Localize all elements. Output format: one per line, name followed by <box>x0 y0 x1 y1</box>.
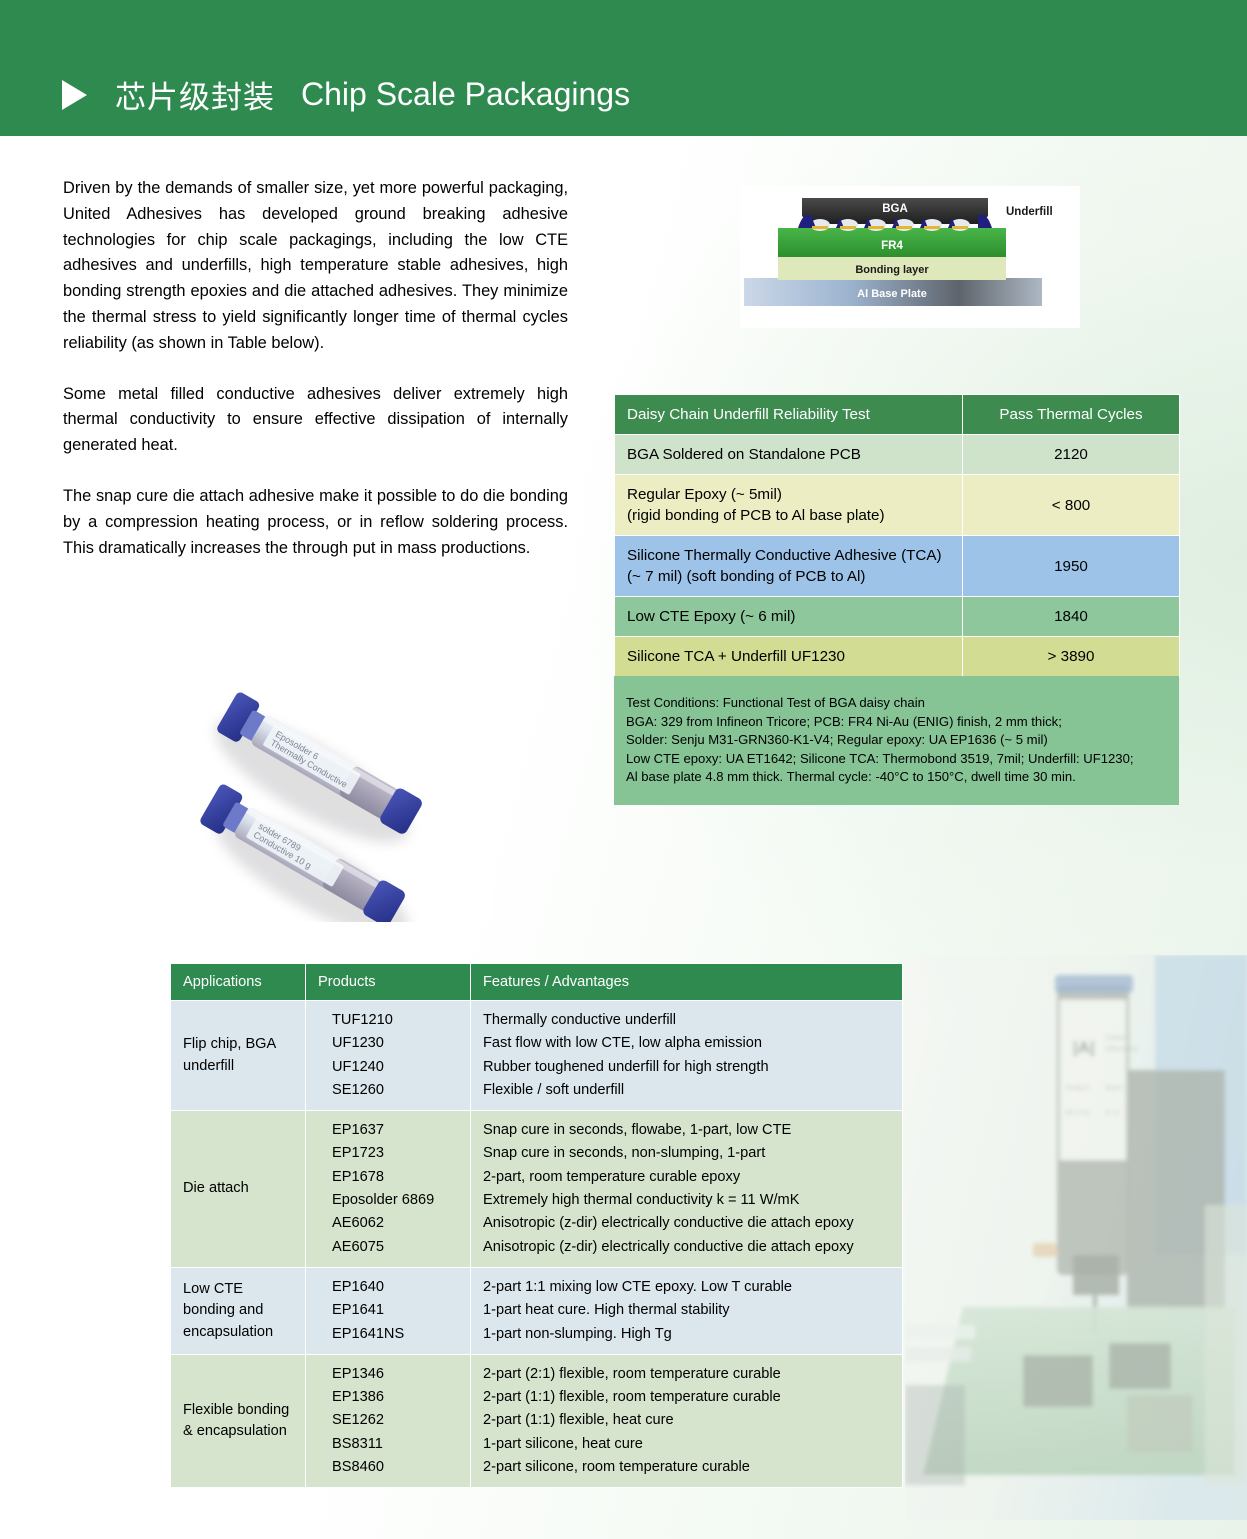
feature-line: 2-part (2:1) flexible, room temperature … <box>483 1363 896 1386</box>
table-row: Regular Epoxy (~ 5mil) (rigid bonding of… <box>615 475 1180 536</box>
product-code: SE1260 <box>332 1079 464 1102</box>
product-code: EP1723 <box>332 1142 464 1165</box>
product-code: EP1640 <box>332 1276 464 1299</box>
bga-cross-section-diagram: BGA Underfill FR4 Bonding layer Al Base … <box>740 186 1080 328</box>
bonding-layer-label: Bonding layer <box>855 264 929 276</box>
dispensing-machine-over-pcb-photo: |A| United Adhesives Product Batch EP172… <box>905 955 1247 1520</box>
application-cell: Low CTE bonding and encapsulation <box>171 1267 306 1354</box>
note-line: Low CTE epoxy: UA ET1642; Silicone TCA: … <box>626 750 1165 769</box>
page-title-chinese: 芯片级封装 <box>115 72 275 117</box>
svg-text:United: United <box>1105 1035 1125 1042</box>
table-row: Silicone Thermally Conductive Adhesive (… <box>615 536 1180 597</box>
feature-line: Fast flow with low CTE, low alpha emissi… <box>483 1032 896 1055</box>
feature-line: Snap cure in seconds, flowabe, 1-part, l… <box>483 1119 896 1142</box>
svg-text:Batch: Batch <box>1105 1085 1123 1092</box>
feature-line: 2-part, room temperature curable epoxy <box>483 1166 896 1189</box>
feature-line: Flexible / soft underfill <box>483 1079 896 1102</box>
product-code: EP1641NS <box>332 1323 464 1346</box>
reliability-cell-test: Silicone TCA + Underfill UF1230 <box>615 637 963 677</box>
svg-text:A-12: A-12 <box>1105 1110 1120 1117</box>
bga-label: BGA <box>882 203 908 215</box>
product-code: EP1678 <box>332 1166 464 1189</box>
note-line: Al base plate 4.8 mm thick. Thermal cycl… <box>626 768 1165 787</box>
features-cell: 2-part 1:1 mixing low CTE epoxy. Low T c… <box>471 1267 903 1354</box>
note-line: BGA: 329 from Infineon Tricore; PCB: FR4… <box>626 713 1165 732</box>
product-code: AE6062 <box>332 1212 464 1235</box>
note-line: Solder: Senju M31-GRN360-K1-V4; Regular … <box>626 731 1165 750</box>
applications-header-applications: Applications <box>171 964 306 1001</box>
product-code: AE6075 <box>332 1236 464 1259</box>
products-cell: EP1640 EP1641 EP1641NS <box>306 1267 471 1354</box>
product-code: TUF1210 <box>332 1009 464 1032</box>
intro-text-column: Driven by the demands of smaller size, y… <box>63 176 568 561</box>
svg-text:EP1723: EP1723 <box>1065 1110 1090 1117</box>
application-line: underfill <box>183 1056 299 1078</box>
product-code: EP1346 <box>332 1363 464 1386</box>
reliability-cell-cycles: 1840 <box>963 597 1180 637</box>
reliability-test-line2: (rigid bonding of PCB to Al base plate) <box>627 507 885 524</box>
application-line: Flip chip, BGA <box>183 1034 299 1056</box>
products-cell: TUF1210 UF1230 UF1240 SE1260 <box>306 1001 471 1111</box>
page-header: 芯片级封装 Chip Scale Packagings <box>0 0 1247 136</box>
reliability-header-test: Daisy Chain Underfill Reliability Test <box>615 395 963 435</box>
application-line: & encapsulation <box>183 1421 299 1443</box>
reliability-test-line1: Silicone Thermally Conductive Adhesive (… <box>627 547 942 564</box>
intro-paragraph-1: Driven by the demands of smaller size, y… <box>63 176 568 357</box>
application-line: Flexible bonding <box>183 1400 299 1422</box>
reliability-header-cycles: Pass Thermal Cycles <box>963 395 1180 435</box>
underfill-label: Underfill <box>1006 206 1053 218</box>
reliability-cell-test: BGA Soldered on Standalone PCB <box>615 435 963 475</box>
reliability-cell-cycles: > 3890 <box>963 637 1180 677</box>
product-code: UF1240 <box>332 1056 464 1079</box>
feature-line: 1-part heat cure. High thermal stability <box>483 1299 896 1322</box>
table-row: Low CTE Epoxy (~ 6 mil) 1840 <box>615 597 1180 637</box>
product-code: EP1637 <box>332 1119 464 1142</box>
feature-line: Anisotropic (z-dir) electrically conduct… <box>483 1212 896 1235</box>
applications-header-features: Features / Advantages <box>471 964 903 1001</box>
application-line: encapsulation <box>183 1322 299 1344</box>
table-row: Flexible bonding & encapsulation EP1346 … <box>171 1354 903 1487</box>
reliability-cell-test: Silicone Thermally Conductive Adhesive (… <box>615 536 963 597</box>
table-row: BGA Soldered on Standalone PCB 2120 <box>615 435 1180 475</box>
feature-line: 1-part silicone, heat cure <box>483 1433 896 1456</box>
reliability-cell-test: Low CTE Epoxy (~ 6 mil) <box>615 597 963 637</box>
feature-line: Thermally conductive underfill <box>483 1009 896 1032</box>
application-cell: Flexible bonding & encapsulation <box>171 1354 306 1487</box>
reliability-table: Daisy Chain Underfill Reliability Test P… <box>614 394 1180 677</box>
application-cell: Die attach <box>171 1111 306 1268</box>
product-code: BS8311 <box>332 1433 464 1456</box>
svg-text:Product: Product <box>1065 1085 1089 1092</box>
svg-text:|A|: |A| <box>1073 1038 1095 1057</box>
reliability-cell-cycles: 1950 <box>963 536 1180 597</box>
application-line: bonding and <box>183 1300 299 1322</box>
intro-paragraph-2: Some metal filled conductive adhesives d… <box>63 382 568 459</box>
reliability-test-line2: (~ 7 mil) (soft bonding of PCB to Al) <box>627 568 865 585</box>
reliability-test-conditions-note: Test Conditions: Functional Test of BGA … <box>614 676 1179 805</box>
features-cell: Thermally conductive underfill Fast flow… <box>471 1001 903 1111</box>
table-row: Low CTE bonding and encapsulation EP1640… <box>171 1267 903 1354</box>
al-base-plate-label: Al Base Plate <box>857 288 927 300</box>
feature-line: Snap cure in seconds, non-slumping, 1-pa… <box>483 1142 896 1165</box>
intro-paragraph-3: The snap cure die attach adhesive make i… <box>63 484 568 561</box>
feature-line: 2-part (1:1) flexible, room temperature … <box>483 1386 896 1409</box>
reliability-cell-cycles: 2120 <box>963 435 1180 475</box>
reliability-test-line1: Regular Epoxy (~ 5mil) <box>627 486 782 503</box>
table-row: Flip chip, BGA underfill TUF1210 UF1230 … <box>171 1001 903 1111</box>
header-title-group: 芯片级封装 Chip Scale Packagings <box>62 72 630 117</box>
product-code: EP1386 <box>332 1386 464 1409</box>
product-code: EP1641 <box>332 1299 464 1322</box>
applications-header-products: Products <box>306 964 471 1001</box>
note-line: Test Conditions: Functional Test of BGA … <box>626 694 1165 713</box>
fr4-label: FR4 <box>881 240 903 252</box>
feature-line: Anisotropic (z-dir) electrically conduct… <box>483 1236 896 1259</box>
reliability-test-line1: Low CTE Epoxy (~ 6 mil) <box>627 608 795 625</box>
feature-line: 1-part non-slumping. High Tg <box>483 1323 896 1346</box>
reliability-cell-test: Regular Epoxy (~ 5mil) (rigid bonding of… <box>615 475 963 536</box>
table-row: Silicone TCA + Underfill UF1230 > 3890 <box>615 637 1180 677</box>
product-code: BS8460 <box>332 1456 464 1479</box>
features-cell: 2-part (2:1) flexible, room temperature … <box>471 1354 903 1487</box>
product-code: UF1230 <box>332 1032 464 1055</box>
feature-line: Rubber toughened underfill for high stre… <box>483 1056 896 1079</box>
application-line: Low CTE <box>183 1279 299 1301</box>
feature-line: 2-part 1:1 mixing low CTE epoxy. Low T c… <box>483 1276 896 1299</box>
feature-line: 2-part (1:1) flexible, heat cure <box>483 1409 896 1432</box>
application-line: Die attach <box>183 1178 299 1200</box>
page-title-english: Chip Scale Packagings <box>301 76 630 113</box>
products-cell: EP1637 EP1723 EP1678 Eposolder 6869 AE60… <box>306 1111 471 1268</box>
table-row: Die attach EP1637 EP1723 EP1678 Eposolde… <box>171 1111 903 1268</box>
application-cell: Flip chip, BGA underfill <box>171 1001 306 1111</box>
reliability-table-header-row: Daisy Chain Underfill Reliability Test P… <box>615 395 1180 435</box>
product-code: SE1262 <box>332 1409 464 1432</box>
products-cell: EP1346 EP1386 SE1262 BS8311 BS8460 <box>306 1354 471 1487</box>
applications-table-header-row: Applications Products Features / Advanta… <box>171 964 903 1001</box>
feature-line: 2-part silicone, room temperature curabl… <box>483 1456 896 1479</box>
reliability-test-line1: Silicone TCA + Underfill UF1230 <box>627 648 845 665</box>
reliability-test-line1: BGA Soldered on Standalone PCB <box>627 446 861 463</box>
applications-table: Applications Products Features / Advanta… <box>170 963 903 1488</box>
feature-line: Extremely high thermal conductivity k = … <box>483 1189 896 1212</box>
triangle-right-icon <box>62 80 87 110</box>
product-code: Eposolder 6869 <box>332 1189 464 1212</box>
reliability-cell-cycles: < 800 <box>963 475 1180 536</box>
adhesive-syringes-photo: Eposolder 6 Thermally Conductive solder … <box>162 632 492 922</box>
features-cell: Snap cure in seconds, flowabe, 1-part, l… <box>471 1111 903 1268</box>
svg-text:Adhesives: Adhesives <box>1105 1046 1138 1053</box>
